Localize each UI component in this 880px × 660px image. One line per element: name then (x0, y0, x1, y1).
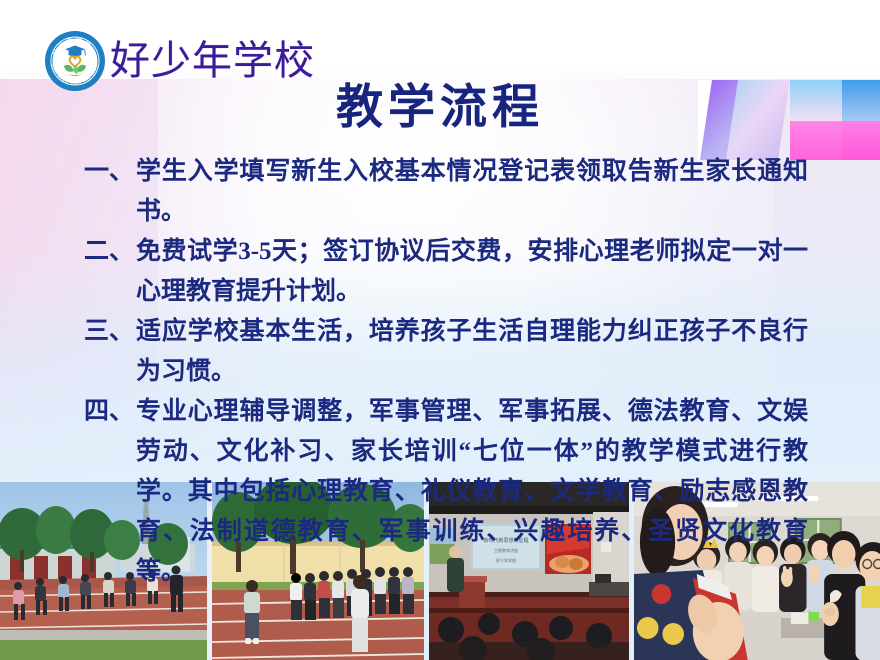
list-item: 一、 学生入学填写新生入校基本情况登记表领取告新生家长通知书。 (84, 152, 808, 232)
brand-lockup: 好少年学校 HAO SHAO NIAN XUE XIAO 好 (44, 30, 315, 92)
presentation-slide: 好少年学校 HAO SHAO NIAN XUE XIAO 好 (0, 0, 880, 660)
list-item-marker: 三、 (84, 312, 136, 352)
list-item-marker: 一、 (84, 152, 136, 192)
list-item: 二、 免费试学3-5天；签订协议后交费，安排心理老师拟定一对一心理教育提升计划。 (84, 232, 808, 312)
school-name: 好少年学校 (110, 41, 315, 81)
list-item: 四、 专业心理辅导调整，军事管理、军事拓展、德法教育、文娱劳动、文化补习、家长培… (84, 392, 808, 592)
list-item: 三、 适应学校基本生活，培养孩子生活自理能力纠正孩子不良行为习惯。 (84, 312, 808, 392)
list-item-marker: 四、 (84, 392, 136, 432)
list-item-text: 专业心理辅导调整，军事管理、军事拓展、德法教育、文娱劳动、文化补习、家长培训“七… (136, 392, 808, 592)
school-crest-icon: 好少年学校 HAO SHAO NIAN XUE XIAO (44, 30, 106, 92)
list-item-text: 学生入学填写新生入校基本情况登记表领取告新生家长通知书。 (136, 152, 808, 232)
list-item-text: 免费试学3-5天；签订协议后交费，安排心理老师拟定一对一心理教育提升计划。 (136, 232, 808, 312)
list-item-text: 适应学校基本生活，培养孩子生活自理能力纠正孩子不良行为习惯。 (136, 312, 808, 392)
process-list: 一、 学生入学填写新生入校基本情况登记表领取告新生家长通知书。 二、 免费试学3… (84, 152, 808, 592)
list-item-marker: 二、 (84, 232, 136, 272)
